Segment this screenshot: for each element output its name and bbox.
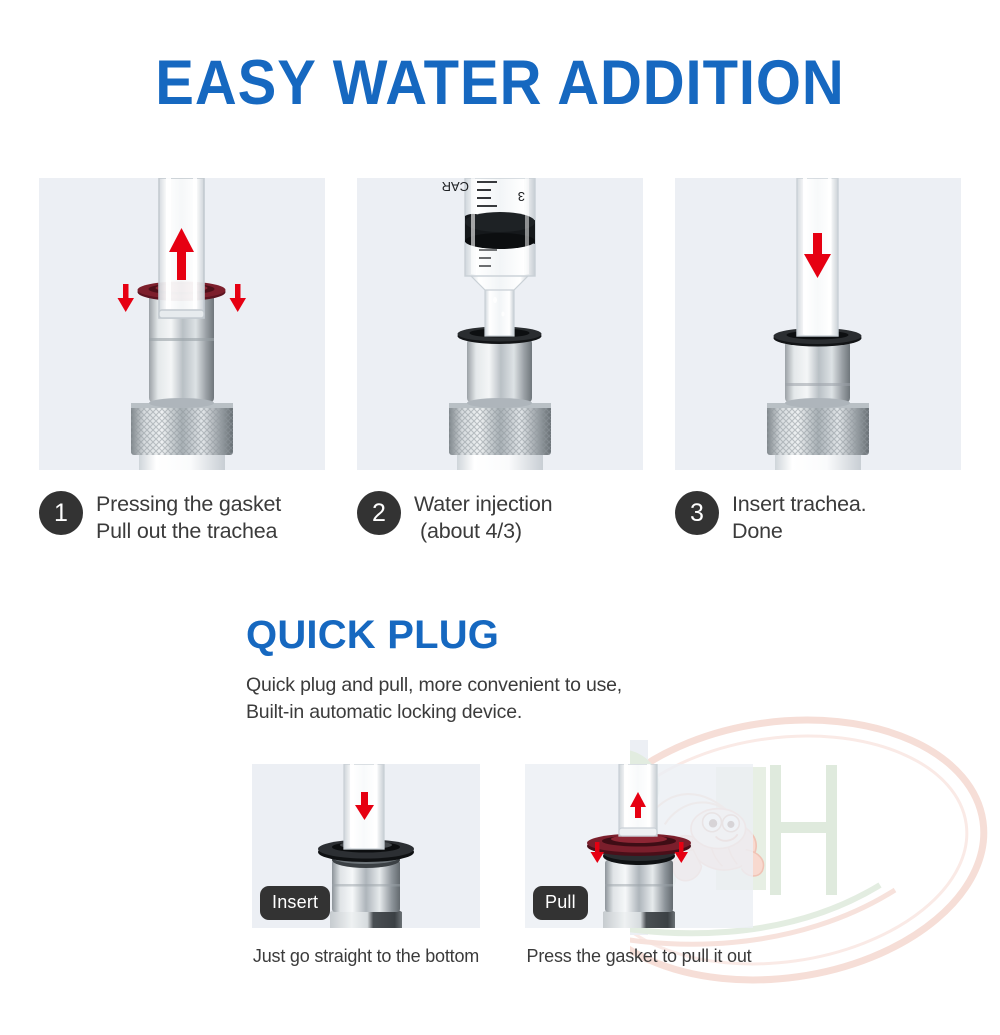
step-3-number: 3 [675,491,719,535]
step-2-caption: 2 Water injection (about 4/3) [357,488,643,545]
insert-caption: Just go straight to the bottom [252,944,480,968]
step-2-text: Water injection (about 4/3) [414,488,552,545]
quick-plug-desc-line-2: Built-in automatic locking device. [246,699,622,726]
insert-tag: Insert [260,886,330,920]
step-3-caption: 3 Insert trachea. Done [675,488,961,545]
quick-plug-title: QUICK PLUG [246,612,499,658]
step-3: 3 Insert trachea. Done [675,178,961,545]
figure-water-injection: CAR 3 [357,178,643,470]
steps-section: 1 Pressing the gasket Pull out the trach… [0,178,1000,558]
step-1-caption: 1 Pressing the gasket Pull out the trach… [39,488,325,545]
page-title: EASY WATER ADDITION [40,48,960,118]
bottom-panel-pull: Pull Press the gasket to pull it out [525,764,753,968]
quick-plug-description: Quick plug and pull, more convenient to … [246,672,622,726]
step-1-number: 1 [39,491,83,535]
pull-image: Pull [525,764,753,928]
figure-insert-trachea [675,178,961,470]
insert-image: Insert [252,764,480,928]
step-1-line-2: Pull out the trachea [96,518,281,545]
step-2-line-1: Water injection [414,491,552,518]
step-2-image: CAR 3 [357,178,643,470]
step-3-line-2: Done [732,518,866,545]
step-2-line-2: (about 4/3) [414,518,552,545]
pull-tag: Pull [533,886,588,920]
step-1: 1 Pressing the gasket Pull out the trach… [39,178,325,545]
step-2-number: 2 [357,491,401,535]
pull-caption: Press the gasket to pull it out [525,944,753,968]
arrow-down-right-icon [230,284,247,312]
bottom-panel-insert: Insert Just go straight to the bottom [252,764,480,968]
step-3-line-1: Insert trachea. [732,491,866,518]
step-1-image [39,178,325,470]
quick-plug-desc-line-1: Quick plug and pull, more convenient to … [246,672,622,699]
step-1-line-1: Pressing the gasket [96,491,281,518]
step-3-text: Insert trachea. Done [732,488,866,545]
syringe-brand-text: CAR [442,179,469,194]
step-1-text: Pressing the gasket Pull out the trachea [96,488,281,545]
syringe-scale-number: 3 [518,189,525,204]
step-3-image [675,178,961,470]
arrow-down-left-icon [118,284,135,312]
step-2: CAR 3 2 Water injection (about 4/3) [357,178,643,545]
figure-pull-out-trachea [39,178,325,470]
